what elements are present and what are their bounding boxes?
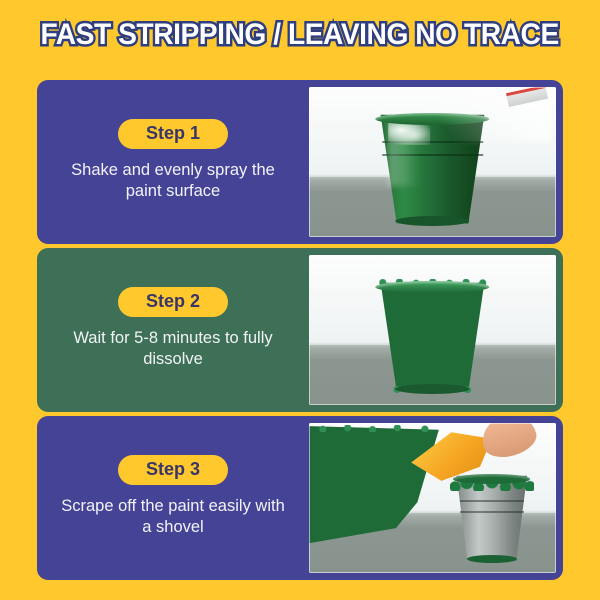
step-card-1: Step 1 Shake and evenly spray the paint … <box>37 80 563 244</box>
bucket-band <box>460 511 524 513</box>
step-3-text-block: Step 3 Scrape off the paint easily with … <box>37 416 309 580</box>
step-1-badge: Step 1 <box>118 119 228 149</box>
paint-sheet-edge <box>309 425 447 433</box>
bucket-base <box>467 555 517 563</box>
step-3-photo <box>309 423 556 573</box>
bucket-band <box>460 500 524 502</box>
step-1-description: Shake and evenly spray the paint surface <box>58 160 288 204</box>
steps-list: Step 1 Shake and evenly spray the paint … <box>37 80 563 580</box>
bare-metal-bucket-icon <box>450 474 534 561</box>
bubbled-paint-bucket-icon <box>371 281 495 392</box>
step-card-2: Step 2 Wait for 5-8 minutes to fully dis… <box>37 248 563 412</box>
step-card-3: Step 3 Scrape off the paint easily with … <box>37 416 563 580</box>
step-3-description: Scrape off the paint easily with a shove… <box>58 496 288 540</box>
bucket-body <box>371 281 495 392</box>
step-2-badge: Step 2 <box>118 287 228 317</box>
step-2-description: Wait for 5-8 minutes to fully dissolve <box>58 328 288 372</box>
poster-header: FAST STRIPPING / LEAVING NO TRACE <box>0 0 600 70</box>
step-2-text-block: Step 2 Wait for 5-8 minutes to fully dis… <box>37 248 309 412</box>
step-3-badge: Step 3 <box>118 455 228 485</box>
bucket-rim <box>376 281 490 293</box>
promo-poster: FAST STRIPPING / LEAVING NO TRACE Step 1… <box>0 0 600 600</box>
step-1-photo <box>309 87 556 237</box>
step-2-photo <box>309 255 556 405</box>
page-title: FAST STRIPPING / LEAVING NO TRACE <box>41 18 559 52</box>
bucket-rim <box>453 474 530 484</box>
step-1-text-block: Step 1 Shake and evenly spray the paint … <box>37 80 309 244</box>
